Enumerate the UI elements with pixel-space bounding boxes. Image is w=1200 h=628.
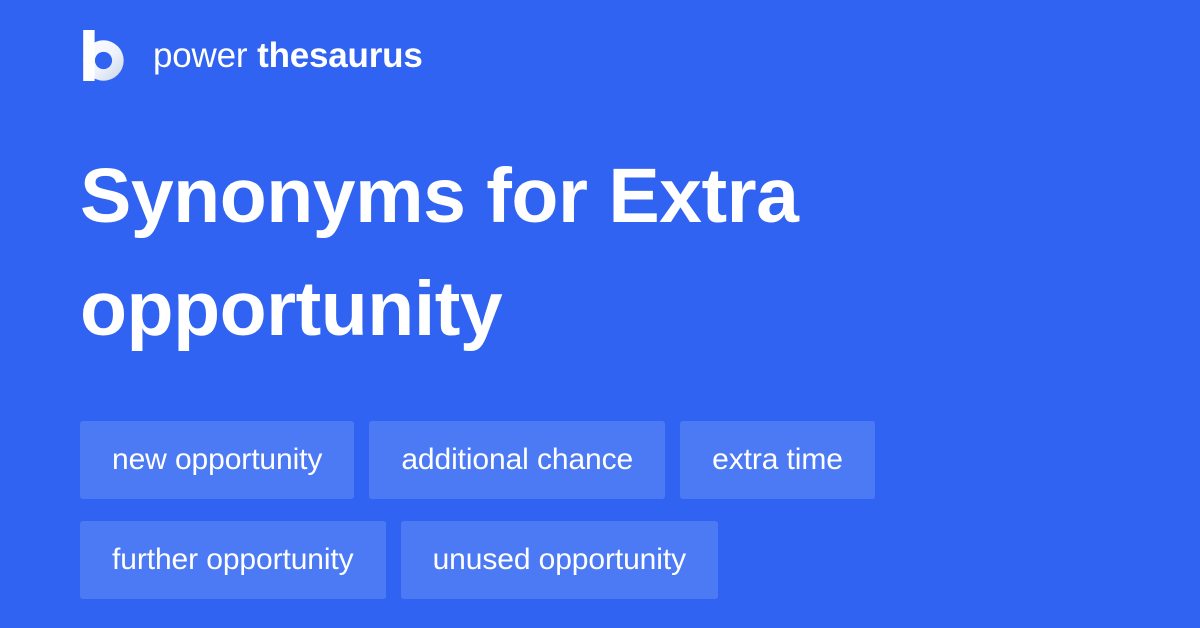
synonym-chip[interactable]: extra time: [680, 421, 875, 499]
synonym-chip-list: new opportunity additional chance extra …: [80, 421, 1120, 599]
synonym-chip[interactable]: unused opportunity: [401, 521, 718, 599]
power-thesaurus-b-logo-icon: [80, 30, 127, 81]
brand-wordmark: power thesaurus: [153, 38, 423, 73]
synonym-chip[interactable]: additional chance: [369, 421, 665, 499]
synonym-chip[interactable]: further opportunity: [80, 521, 386, 599]
page-title: Synonyms for Extra opportunity: [80, 140, 1120, 366]
brand-header[interactable]: power thesaurus: [80, 28, 423, 82]
brand-word-thesaurus: thesaurus: [257, 38, 422, 73]
brand-word-power: power: [153, 38, 247, 73]
synonym-chip[interactable]: new opportunity: [80, 421, 354, 499]
